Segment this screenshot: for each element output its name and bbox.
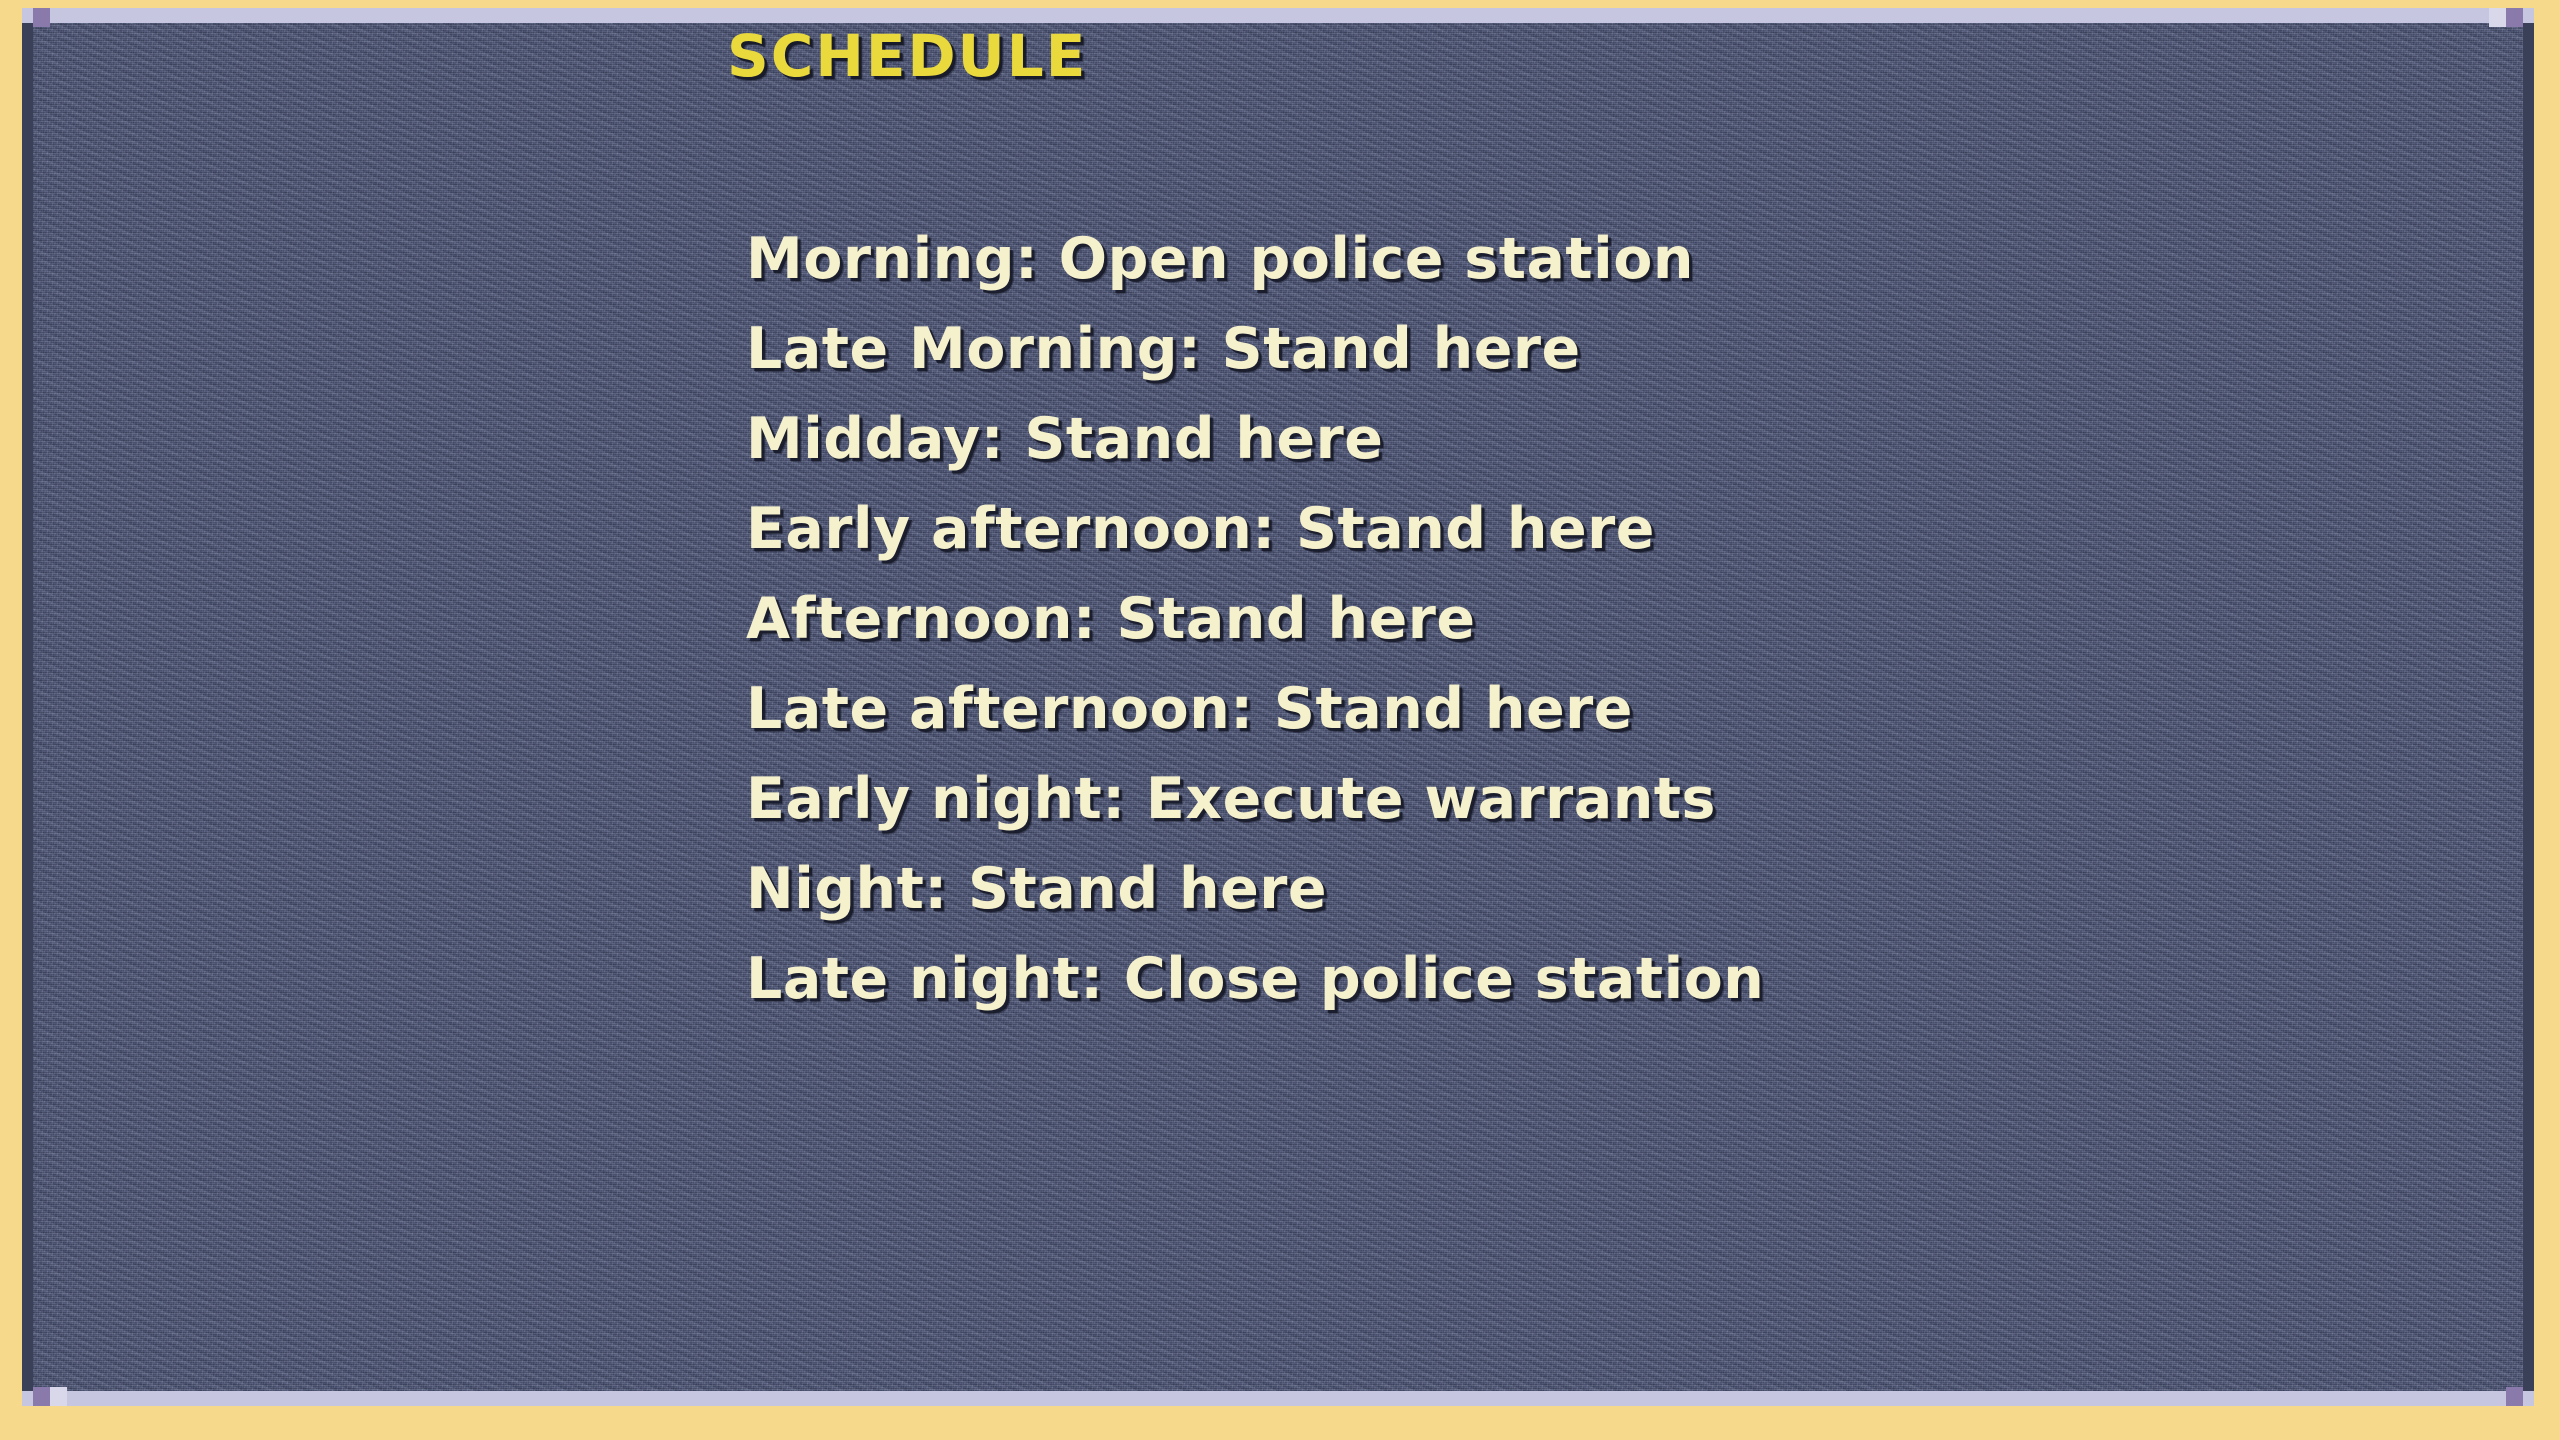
- schedule-entry: Midday: Stand here: [746, 394, 1764, 484]
- schedule-entry: Late afternoon: Stand here: [746, 664, 1764, 754]
- panel-content: SCHEDULE Morning: Open police station La…: [22, 8, 2534, 1406]
- schedule-entry: Early afternoon: Stand here: [746, 484, 1764, 574]
- schedule-entry: Night: Stand here: [746, 844, 1764, 934]
- game-screen: SCHEDULE Morning: Open police station La…: [0, 0, 2560, 1440]
- schedule-entry: Morning: Open police station: [746, 214, 1764, 304]
- schedule-panel: SCHEDULE Morning: Open police station La…: [22, 8, 2534, 1406]
- schedule-entry: Afternoon: Stand here: [746, 574, 1764, 664]
- schedule-entry: Late night: Close police station: [746, 934, 1764, 1024]
- schedule-entry: Late Morning: Stand here: [746, 304, 1764, 394]
- schedule-list: Morning: Open police station Late Mornin…: [746, 214, 1764, 1024]
- schedule-entry: Early night: Execute warrants: [746, 754, 1764, 844]
- panel-title: SCHEDULE: [727, 22, 1087, 90]
